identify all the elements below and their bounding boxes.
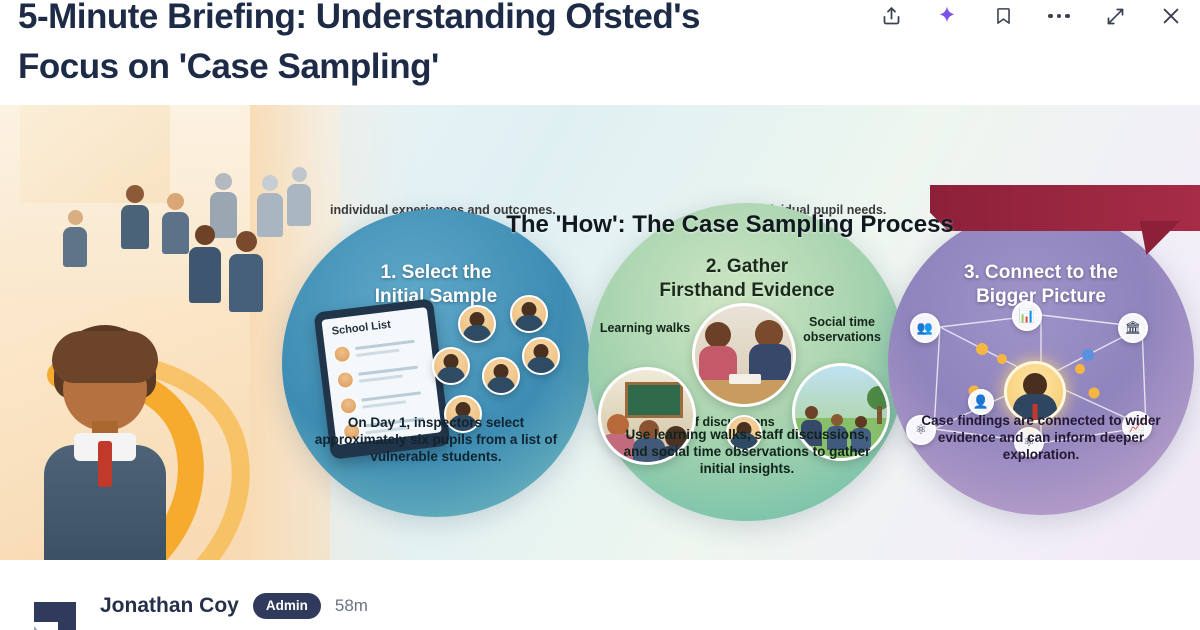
expand-icon[interactable] bbox=[1100, 1, 1130, 31]
author-row: Jonathan Coy Admin 58m bbox=[100, 593, 368, 619]
pupil-avatar bbox=[522, 337, 560, 375]
step-3-caption: Case findings are connected to wider evi… bbox=[912, 412, 1170, 463]
page-title: 5-Minute Briefing: Understanding Ofsted'… bbox=[18, 0, 788, 92]
step-2-caption: Use learning walks, staff discussions, a… bbox=[612, 426, 882, 477]
foreground-pupil-illustration bbox=[30, 325, 180, 560]
author-name[interactable]: Jonathan Coy bbox=[100, 594, 239, 618]
infographic-title: The 'How': The Case Sampling Process bbox=[420, 211, 1040, 239]
step-3-circle: 3. Connect to the Bigger Picture 👥 📊 � bbox=[888, 209, 1194, 515]
pupil-avatar bbox=[432, 347, 470, 385]
close-icon[interactable] bbox=[1156, 1, 1186, 31]
learning-walks-label: Learning walks bbox=[590, 321, 700, 336]
pupil-figure bbox=[62, 210, 88, 267]
pupil-figure bbox=[120, 185, 150, 249]
bar-chart-icon: 📊 bbox=[1012, 301, 1042, 331]
list-item bbox=[333, 336, 425, 365]
avatar[interactable] bbox=[28, 592, 84, 630]
post-image[interactable]: individual experiences and outcomes. mee… bbox=[0, 105, 1200, 560]
institution-icon: 🏛 bbox=[1118, 313, 1148, 343]
step-1-circle: 1. Select the Initial Sample School List bbox=[282, 209, 590, 517]
bookmark-icon[interactable] bbox=[988, 1, 1018, 31]
status-badge: Admin bbox=[253, 593, 321, 619]
sparkle-icon[interactable] bbox=[932, 1, 962, 31]
more-dots bbox=[1048, 14, 1070, 19]
pupil-figure bbox=[188, 225, 222, 303]
pupil-avatar bbox=[482, 357, 520, 395]
step-2-title: 2. Gather Firsthand Evidence bbox=[588, 255, 906, 303]
step-2-circle: 2. Gather Firsthand Evidence Staff discu… bbox=[588, 203, 906, 521]
list-item bbox=[336, 362, 428, 391]
pupil-avatar bbox=[458, 305, 496, 343]
post-footer: Jonathan Coy Admin 58m bbox=[0, 560, 1200, 630]
pupil-figure bbox=[228, 231, 264, 312]
step-1-caption: On Day 1, inspectors select approximatel… bbox=[306, 414, 566, 465]
timestamp: 58m bbox=[335, 596, 368, 616]
pupil-figure bbox=[256, 175, 284, 237]
share-icon[interactable] bbox=[876, 1, 906, 31]
infographic-canvas: individual experiences and outcomes. mee… bbox=[0, 105, 1200, 560]
pupil-figure bbox=[286, 167, 312, 226]
pupil-avatar bbox=[510, 295, 548, 333]
post-header: 5-Minute Briefing: Understanding Ofsted'… bbox=[0, 0, 1200, 105]
people-chart-icon: 👥 bbox=[910, 313, 940, 343]
staff-discussions-photo bbox=[692, 303, 796, 407]
header-actions bbox=[876, 0, 1186, 38]
list-item bbox=[339, 387, 431, 416]
more-icon[interactable] bbox=[1044, 1, 1074, 31]
pupil-figure bbox=[160, 193, 190, 254]
school-list-title: School List bbox=[331, 319, 391, 338]
social-time-label: Social time observations bbox=[784, 315, 900, 345]
